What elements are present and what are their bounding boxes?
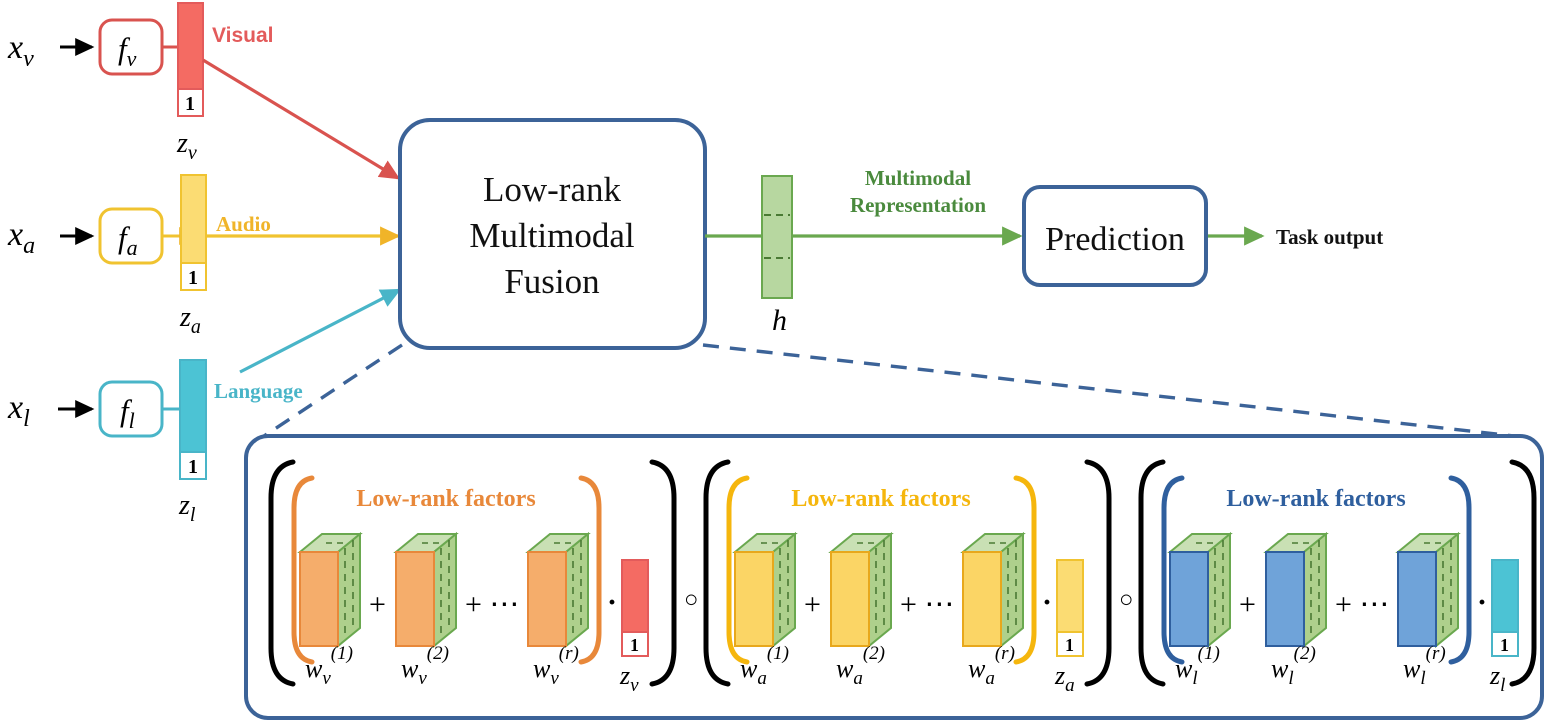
language-to-fusion-arrow (240, 290, 399, 372)
tensor-block-visual-r (528, 534, 588, 646)
tensor-block-audio-2 (831, 534, 891, 646)
audio-dot-product: · (1042, 586, 1052, 619)
figure-root: xv fv 1 Visual zv xa fa 1 Audio za (0, 0, 1556, 721)
language-stream-label: Language (214, 379, 303, 403)
visual-to-fusion-arrow (203, 60, 398, 178)
audio-detail-vector (1057, 560, 1083, 632)
h-vector (762, 176, 792, 298)
audio-plus-1: + (804, 588, 821, 621)
fusion-box: Low-rank Multimodal Fusion (400, 120, 705, 348)
language-factors-heading: Low-rank factors (1226, 486, 1405, 512)
output-branch: h Multimodal Representation Prediction T… (705, 166, 1383, 337)
language-detail-vector (1492, 560, 1518, 632)
prediction-label: Prediction (1045, 221, 1185, 258)
tensor-block-language-1 (1170, 534, 1230, 646)
visual-factors-heading: Low-rank factors (356, 486, 535, 512)
fusion-line-1: Low-rank (483, 170, 622, 209)
visual-branch: xv fv 1 Visual zv (7, 3, 398, 178)
visual-input-label: xv (7, 29, 34, 72)
fusion-line-2: Multimodal (469, 216, 635, 255)
visual-stream-label: Visual (212, 24, 273, 47)
language-detail-bias-value: 1 (1500, 635, 1509, 655)
audio-bias-value: 1 (188, 267, 198, 289)
representation-label-line-1: Multimodal (865, 166, 971, 190)
audio-detail-bias-value: 1 (1065, 635, 1074, 655)
architecture-diagram: xv fv 1 Visual zv xa fa 1 Audio za (0, 0, 1556, 721)
hadamard-symbol-1: ○ (684, 587, 699, 613)
tensor-block-visual-2 (396, 534, 456, 646)
representation-label-line-2: Representation (850, 193, 986, 217)
language-input-label: xl (7, 389, 30, 432)
tensor-block-audio-1 (735, 534, 795, 646)
visual-detail-bias-value: 1 (630, 635, 639, 655)
audio-factors-heading: Low-rank factors (791, 486, 970, 512)
language-vector-label: zl (178, 490, 196, 526)
task-output-label: Task output (1276, 225, 1383, 249)
audio-branch: xa fa 1 Audio za (7, 175, 398, 338)
language-plus-1: + (1239, 588, 1256, 621)
language-bias-value: 1 (188, 456, 198, 478)
tensor-block-audio-r (963, 534, 1023, 646)
fusion-line-3: Fusion (504, 262, 599, 301)
tensor-block-language-r (1398, 534, 1458, 646)
tensor-block-language-2 (1266, 534, 1326, 646)
tensor-block-visual-1 (300, 534, 360, 646)
audio-stream-label: Audio (216, 212, 271, 236)
visual-vector (178, 3, 203, 89)
visual-vector-label: zv (176, 128, 197, 164)
visual-detail-vector (622, 560, 648, 632)
visual-bias-value: 1 (185, 93, 195, 115)
language-vector (180, 360, 206, 452)
hadamard-symbol-2: ○ (1119, 587, 1134, 613)
h-label: h (772, 304, 787, 337)
visual-dot-product: · (607, 586, 617, 619)
connector-right-dashed (703, 345, 1532, 438)
detail-connectors (258, 345, 1532, 440)
audio-vector-label: za (179, 302, 201, 338)
audio-vector (181, 175, 206, 263)
audio-input-label: xa (7, 216, 35, 259)
visual-plus-1: + (369, 588, 386, 621)
language-dot-product: · (1477, 586, 1487, 619)
